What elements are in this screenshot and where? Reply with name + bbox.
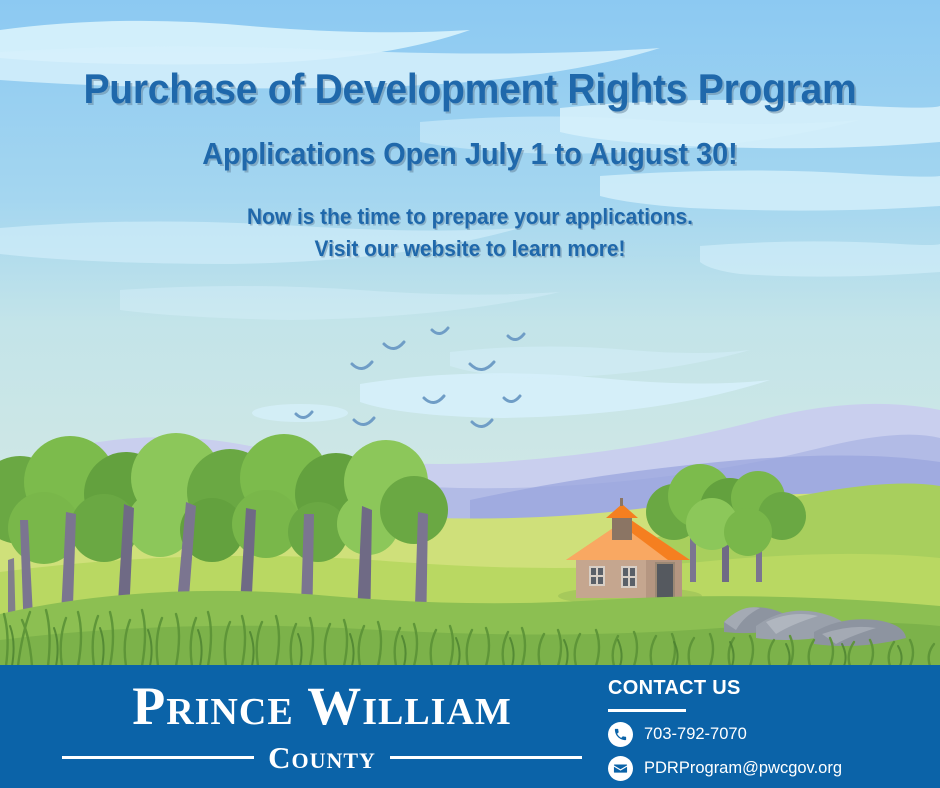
logo-secondary-text: County bbox=[268, 742, 376, 773]
tagline-line-1: Now is the time to prepare your applicat… bbox=[37, 201, 903, 232]
phone-icon bbox=[608, 722, 633, 747]
page-subtitle: Applications Open July 1 to August 30! bbox=[33, 111, 907, 171]
contact-divider bbox=[608, 709, 686, 712]
prince-william-county-logo: Prince William County bbox=[62, 679, 582, 773]
pdr-program-flyer: Purchase of Development Rights Program A… bbox=[0, 0, 940, 788]
page-tagline: Now is the time to prepare your applicat… bbox=[24, 171, 917, 263]
contact-phone-row[interactable]: 703-792-7070 bbox=[608, 722, 842, 747]
contact-phone-number: 703-792-7070 bbox=[644, 726, 747, 743]
page-title: Purchase of Development Rights Program bbox=[33, 0, 907, 111]
logo-rule-left bbox=[62, 756, 254, 759]
contact-section: CONTACT US 703-792-7070 PDRProgram@ bbox=[608, 677, 842, 788]
contact-email-row[interactable]: PDRProgram@pwcgov.org bbox=[608, 756, 842, 781]
contact-heading: CONTACT US bbox=[608, 677, 842, 700]
envelope-icon bbox=[608, 756, 633, 781]
headline-block: Purchase of Development Rights Program A… bbox=[0, 0, 940, 264]
logo-rule-right bbox=[390, 756, 582, 759]
logo-primary-text: Prince William bbox=[62, 679, 582, 733]
footer-bar: Prince William County CONTACT US 703-792… bbox=[0, 665, 940, 788]
tagline-line-2: Visit our website to learn more! bbox=[37, 233, 903, 264]
contact-email-address: PDRProgram@pwcgov.org bbox=[644, 760, 842, 777]
logo-secondary-row: County bbox=[62, 742, 582, 773]
